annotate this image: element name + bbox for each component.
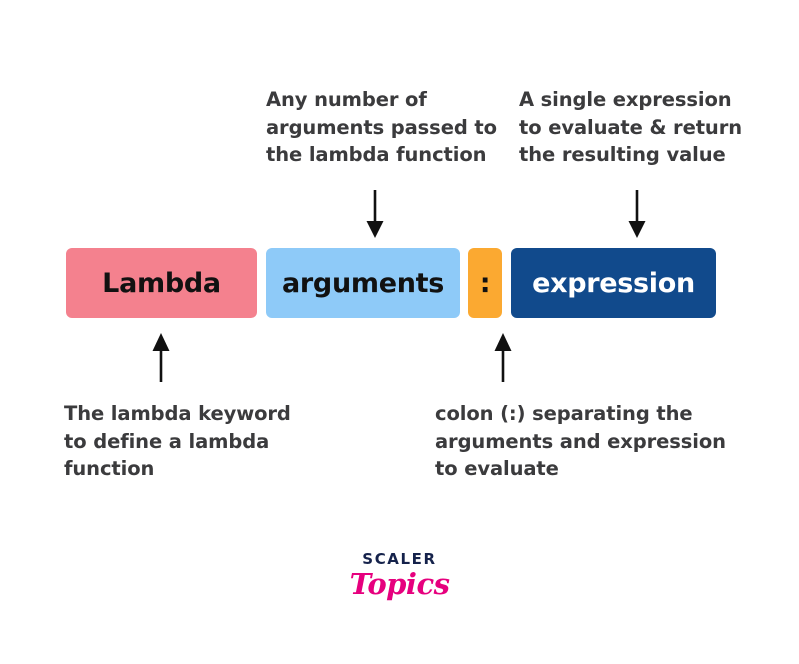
- annotation-arguments: Any number of arguments passed to the la…: [266, 86, 511, 169]
- arrow-up-to-colon-icon: [492, 330, 514, 382]
- syntax-token-colon: :: [468, 248, 502, 318]
- annotation-lambda-keyword: The lambda keyword to define a lambda fu…: [64, 400, 314, 483]
- diagram-canvas: Any number of arguments passed to the la…: [0, 0, 799, 664]
- annotation-colon: colon (:) separating the arguments and e…: [435, 400, 740, 483]
- syntax-token-expression: expression: [511, 248, 716, 318]
- syntax-token-arguments: arguments: [266, 248, 460, 318]
- arrow-down-to-expression-icon: [626, 190, 648, 240]
- arrow-down-to-arguments-icon: [364, 190, 386, 240]
- annotation-expression: A single expression to evaluate & return…: [519, 86, 751, 169]
- brand-logo: SCALER Topics: [0, 552, 799, 599]
- arrow-up-to-lambda-icon: [150, 330, 172, 382]
- brand-name: SCALER: [0, 552, 799, 567]
- brand-sub-name: Topics: [0, 569, 799, 599]
- lambda-syntax-row: Lambda arguments : expression: [66, 248, 716, 318]
- syntax-token-lambda: Lambda: [66, 248, 257, 318]
